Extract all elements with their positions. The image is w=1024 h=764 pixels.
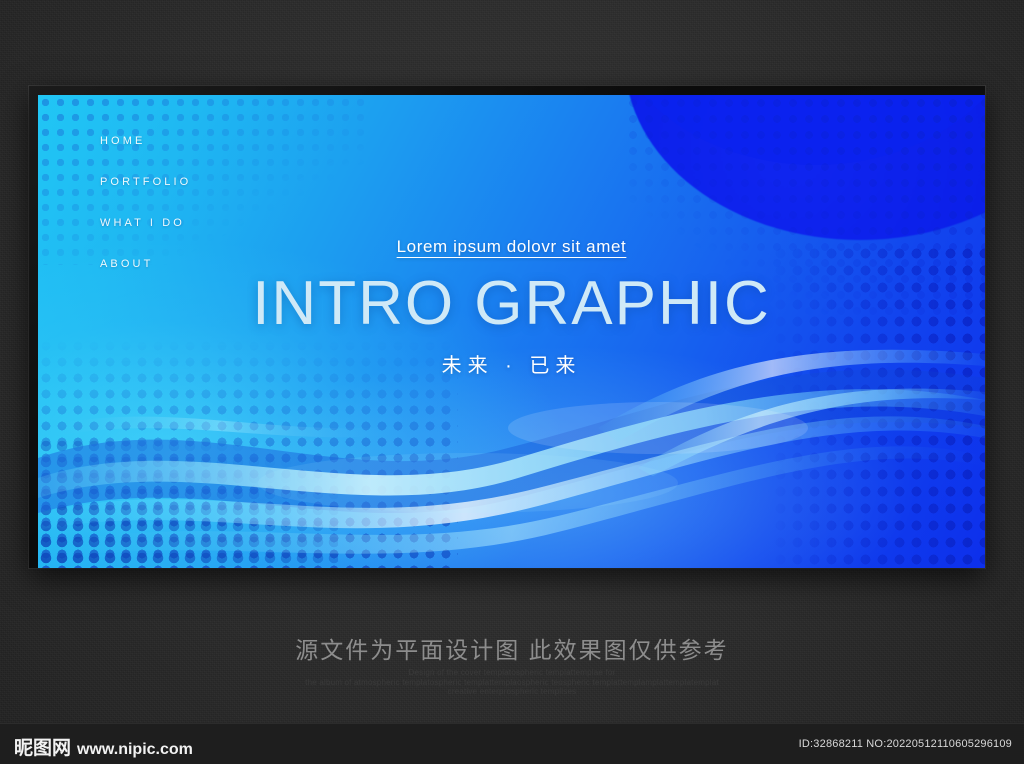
poster-frame: HOME PORTFOLIO WHAT I DO ABOUT Lorem ips… — [29, 86, 985, 568]
caption-english-line-2: the album of atmospheric templatospheric… — [0, 678, 1024, 688]
caption-chinese: 源文件为平面设计图 此效果图仅供参考 — [0, 631, 1024, 665]
nav-item-home[interactable]: HOME — [100, 135, 191, 147]
caption-english-line-3: creative enterprospheric templises — [0, 687, 1024, 697]
caption-english-line-1: Design of the cover templatospheric temp… — [0, 668, 1024, 678]
asset-id-text: ID:32868211 NO:20220512110605296109 — [799, 738, 1012, 750]
nav-item-portfolio[interactable]: PORTFOLIO — [100, 176, 191, 188]
poster-headline-block: Lorem ipsum dolovr sit amet INTRO GRAPHI… — [38, 237, 985, 378]
watermark-url[interactable]: www.nipic.com — [77, 741, 193, 759]
poster-artwork: HOME PORTFOLIO WHAT I DO ABOUT Lorem ips… — [38, 95, 985, 568]
footer-bar: 昵图网 www.nipic.com ID:32868211 NO:2022051… — [0, 723, 1024, 764]
nav-item-what-i-do[interactable]: WHAT I DO — [100, 217, 191, 229]
watermark: 昵图网 www.nipic.com — [14, 733, 193, 760]
caption-english: Design of the cover templatospheric temp… — [0, 668, 1024, 697]
poster-subtitle-chinese: 未来 · 已来 — [38, 349, 985, 378]
poster-title: INTRO GRAPHIC — [38, 273, 985, 335]
poster-subtitle: Lorem ipsum dolovr sit amet — [397, 237, 627, 257]
watermark-logo-text: 昵图网 — [14, 733, 71, 760]
